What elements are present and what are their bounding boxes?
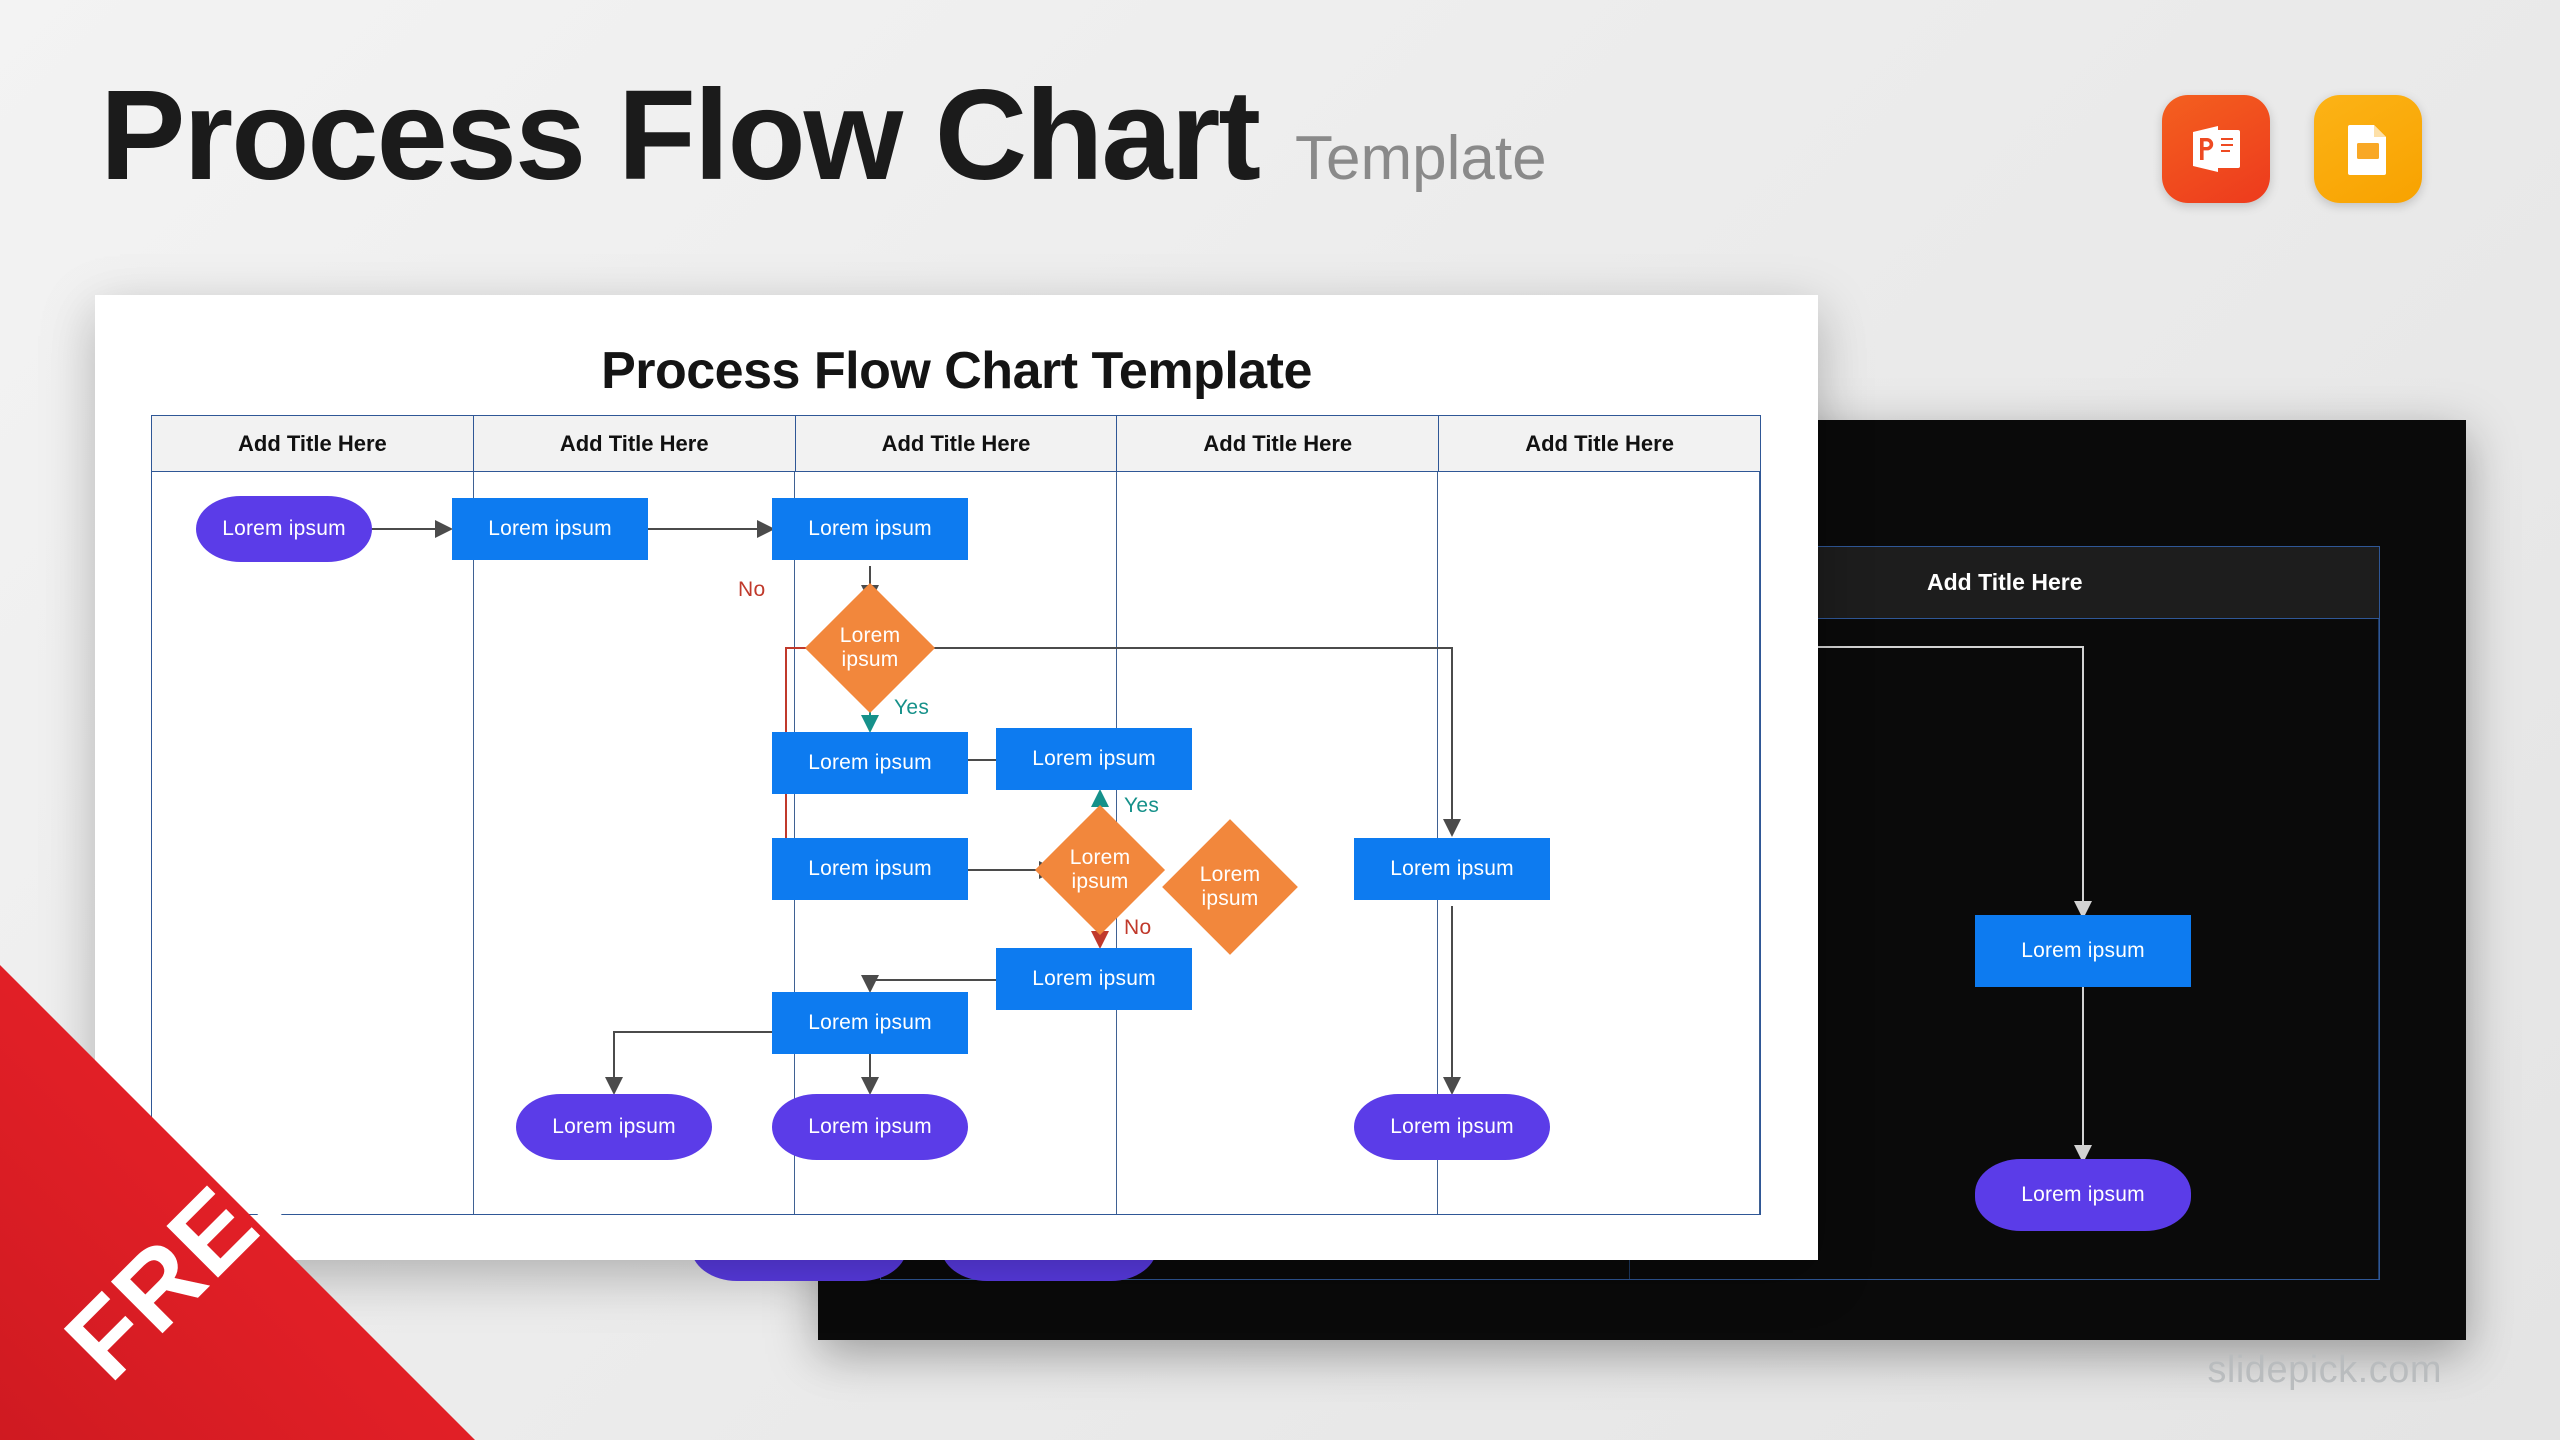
white-node-process[interactable]: Lorem ipsum	[996, 948, 1192, 1010]
white-column-header: Add Title Here	[1117, 416, 1439, 471]
white-node-decision[interactable]: Lorem ipsum	[1054, 824, 1146, 916]
node-label: Lorem ipsum	[1182, 863, 1278, 911]
white-node-process[interactable]: Lorem ipsum	[1354, 838, 1550, 900]
slide-white[interactable]: Process Flow Chart Template Add Title He…	[95, 295, 1818, 1260]
white-column-header: Add Title Here	[152, 416, 474, 471]
white-node-process[interactable]: Lorem ipsum	[452, 498, 648, 560]
dark-node-process[interactable]: Lorem ipsum	[1975, 915, 2191, 987]
node-label: Lorem ipsum	[808, 857, 932, 881]
node-label: Lorem ipsum	[488, 517, 612, 541]
node-label: Lorem ipsum	[1032, 747, 1156, 771]
white-column-header: Add Title Here	[796, 416, 1118, 471]
powerpoint-glyph	[2185, 118, 2247, 180]
white-node-terminator-start[interactable]: Lorem ipsum	[196, 496, 372, 562]
title-block: Process Flow Chart Template	[100, 72, 1547, 200]
page-title-suffix: Template	[1295, 123, 1547, 194]
dark-node-terminator[interactable]: Lorem ipsum	[1975, 1159, 2191, 1231]
node-label: Lorem ipsum	[1054, 846, 1146, 894]
white-column-header: Add Title Here	[474, 416, 796, 471]
white-node-terminator-end[interactable]: Lorem ipsum	[772, 1094, 968, 1160]
white-edge-label-yes: Yes	[1124, 794, 1159, 818]
google-slides-glyph	[2338, 119, 2398, 179]
page-header: Process Flow Chart Template	[0, 0, 2560, 290]
node-label: Lorem ipsum	[808, 1115, 932, 1139]
node-label: Lorem ipsum	[222, 517, 346, 541]
node-label: Lorem ipsum	[824, 624, 916, 672]
page-title: Process Flow Chart	[100, 72, 1259, 200]
dark-node-decision[interactable]: Lorem ipsum	[1182, 839, 1278, 935]
white-edge-label-no: No	[738, 578, 765, 602]
node-label: Lorem ipsum	[2021, 939, 2145, 963]
white-node-process[interactable]: Lorem ipsum	[996, 728, 1192, 790]
white-edge-label-no: No	[1124, 916, 1151, 940]
white-slide-title: Process Flow Chart Template	[95, 341, 1818, 401]
white-table-header-row: Add Title Here Add Title Here Add Title …	[152, 416, 1760, 472]
white-column-header: Add Title Here	[1439, 416, 1760, 471]
node-label: Lorem ipsum	[1390, 857, 1514, 881]
white-table-body: Lorem ipsum Lorem ipsum Lorem ipsum Lore…	[152, 472, 1760, 1214]
white-node-terminator-end[interactable]: Lorem ipsum	[1354, 1094, 1550, 1160]
site-watermark: slidepick.com	[2207, 1349, 2442, 1392]
powerpoint-icon[interactable]	[2162, 95, 2270, 203]
white-node-terminator-end[interactable]: Lorem ipsum	[516, 1094, 712, 1160]
node-label: Lorem ipsum	[1390, 1115, 1514, 1139]
white-slide-table: Add Title Here Add Title Here Add Title …	[151, 415, 1761, 1215]
white-node-process[interactable]: Lorem ipsum	[772, 838, 968, 900]
white-node-decision[interactable]: Lorem ipsum	[824, 602, 916, 694]
node-label: Lorem ipsum	[2021, 1183, 2145, 1207]
google-slides-icon[interactable]	[2314, 95, 2422, 203]
node-label: Lorem ipsum	[552, 1115, 676, 1139]
white-node-process[interactable]: Lorem ipsum	[772, 498, 968, 560]
white-node-process[interactable]: Lorem ipsum	[772, 992, 968, 1054]
node-label: Lorem ipsum	[808, 751, 932, 775]
white-node-process[interactable]: Lorem ipsum	[772, 732, 968, 794]
node-label: Lorem ipsum	[808, 1011, 932, 1035]
node-label: Lorem ipsum	[808, 517, 932, 541]
white-edge-label-yes: Yes	[894, 696, 929, 720]
app-icon-group	[2162, 95, 2422, 203]
node-label: Lorem ipsum	[1032, 967, 1156, 991]
